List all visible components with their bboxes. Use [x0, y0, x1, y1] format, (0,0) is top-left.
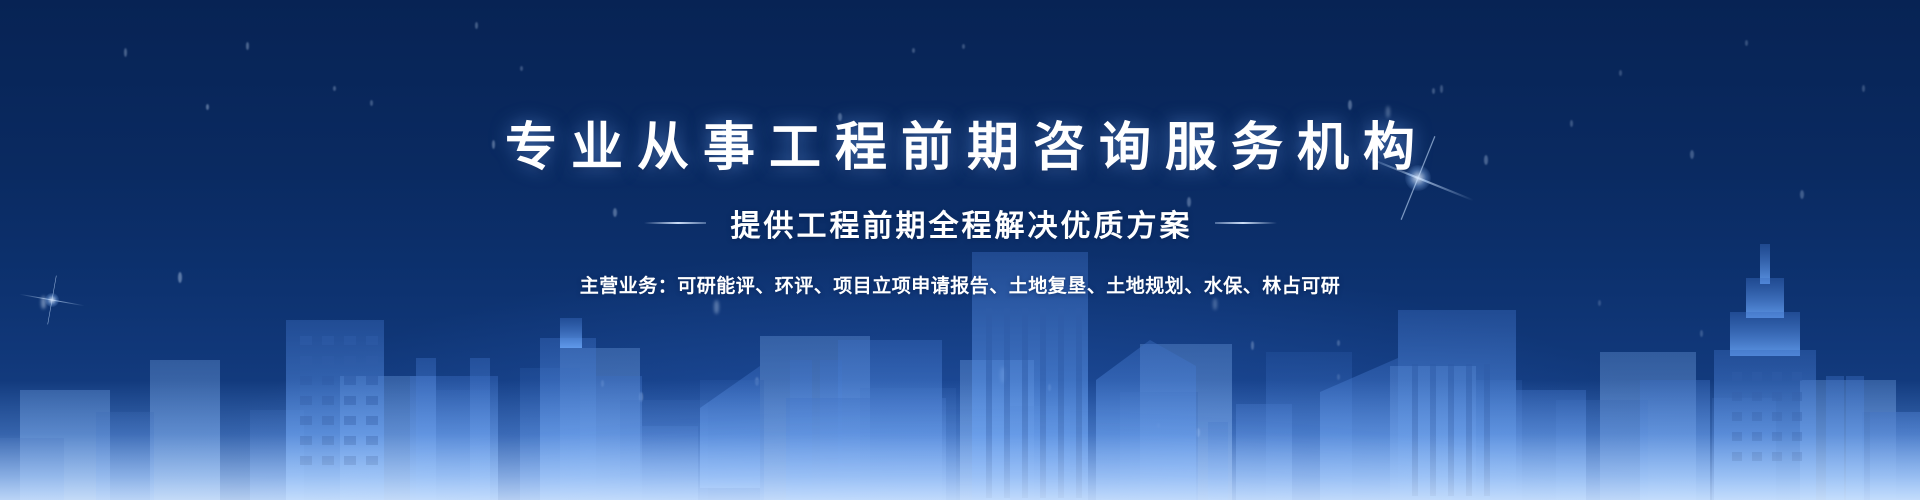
banner-content: 专业从事工程前期咨询服务机构 提供工程前期全程解决优质方案 主营业务：可研能评、… — [0, 0, 1920, 298]
subtitle-row: 提供工程前期全程解决优质方案 — [0, 201, 1920, 245]
page-subtitle: 提供工程前期全程解决优质方案 — [728, 201, 1193, 245]
decorative-line-left — [644, 222, 706, 224]
hero-banner: 专业从事工程前期咨询服务机构 提供工程前期全程解决优质方案 主营业务：可研能评、… — [0, 0, 1920, 500]
services-list: 主营业务：可研能评、环评、项目立项申请报告、土地复垦、土地规划、水保、林占可研 — [0, 271, 1920, 298]
page-title: 专业从事工程前期咨询服务机构 — [0, 118, 1920, 179]
decorative-line-right — [1215, 222, 1277, 224]
